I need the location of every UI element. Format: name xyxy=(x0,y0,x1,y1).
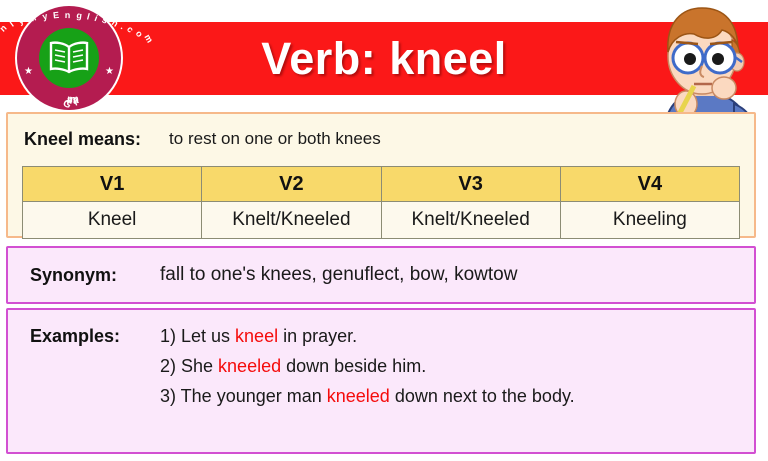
header: Verb: kneel OnlyMyEnglish.com ★ ★ Gramma… xyxy=(0,0,768,112)
synonym-label: Synonym: xyxy=(30,265,160,286)
meaning-text: to rest on one or both knees xyxy=(169,129,381,149)
site-logo: OnlyMyEnglish.com ★ ★ Grammar xyxy=(17,6,121,110)
logo-top-text: OnlyMyEnglish.com xyxy=(17,10,121,20)
example-2-prefix: 2) She xyxy=(160,356,218,376)
example-1-highlight: kneel xyxy=(235,326,278,346)
logo-bottom-text: Grammar xyxy=(17,94,121,105)
example-3-prefix: 3) The younger man xyxy=(160,386,327,406)
meaning-and-conjugation-box: Kneel means: to rest on one or both knee… xyxy=(6,112,756,238)
example-1-prefix: 1) Let us xyxy=(160,326,235,346)
table-header-row: V1 V2 V3 V4 xyxy=(23,167,740,202)
example-2-highlight: kneeled xyxy=(218,356,281,376)
column-header-v4: V4 xyxy=(560,167,739,202)
examples-list: 1) Let us kneel in prayer. 2) She kneele… xyxy=(160,326,575,407)
cell-v4: Kneeling xyxy=(560,202,739,239)
synonym-box: Synonym: fall to one's knees, genuflect,… xyxy=(6,246,756,304)
example-item-1: 1) Let us kneel in prayer. xyxy=(160,326,575,347)
logo-star-left-icon: ★ xyxy=(24,66,33,77)
logo-star-right-icon: ★ xyxy=(105,66,114,77)
synonym-text: fall to one's knees, genuflect, bow, kow… xyxy=(160,264,517,286)
meaning-row: Kneel means: to rest on one or both knee… xyxy=(8,114,754,164)
table-row: Kneel Knelt/Kneeled Knelt/Kneeled Kneeli… xyxy=(23,202,740,239)
column-header-v3: V3 xyxy=(381,167,560,202)
example-3-suffix: down next to the body. xyxy=(390,386,575,406)
example-item-2: 2) She kneeled down beside him. xyxy=(160,356,575,377)
cell-v1: Kneel xyxy=(23,202,202,239)
meaning-label: Kneel means: xyxy=(24,129,141,150)
cell-v2: Knelt/Kneeled xyxy=(202,202,381,239)
logo-open-book-icon xyxy=(39,28,99,88)
verb-forms-table: V1 V2 V3 V4 Kneel Knelt/Kneeled Knelt/Kn… xyxy=(22,166,740,239)
cell-v3: Knelt/Kneeled xyxy=(381,202,560,239)
example-item-3: 3) The younger man kneeled down next to … xyxy=(160,386,575,407)
example-1-suffix: in prayer. xyxy=(278,326,357,346)
column-header-v2: V2 xyxy=(202,167,381,202)
example-2-suffix: down beside him. xyxy=(281,356,426,376)
examples-box: Examples: 1) Let us kneel in prayer. 2) … xyxy=(6,308,756,454)
column-header-v1: V1 xyxy=(23,167,202,202)
examples-label: Examples: xyxy=(30,326,160,347)
example-3-highlight: kneeled xyxy=(327,386,390,406)
